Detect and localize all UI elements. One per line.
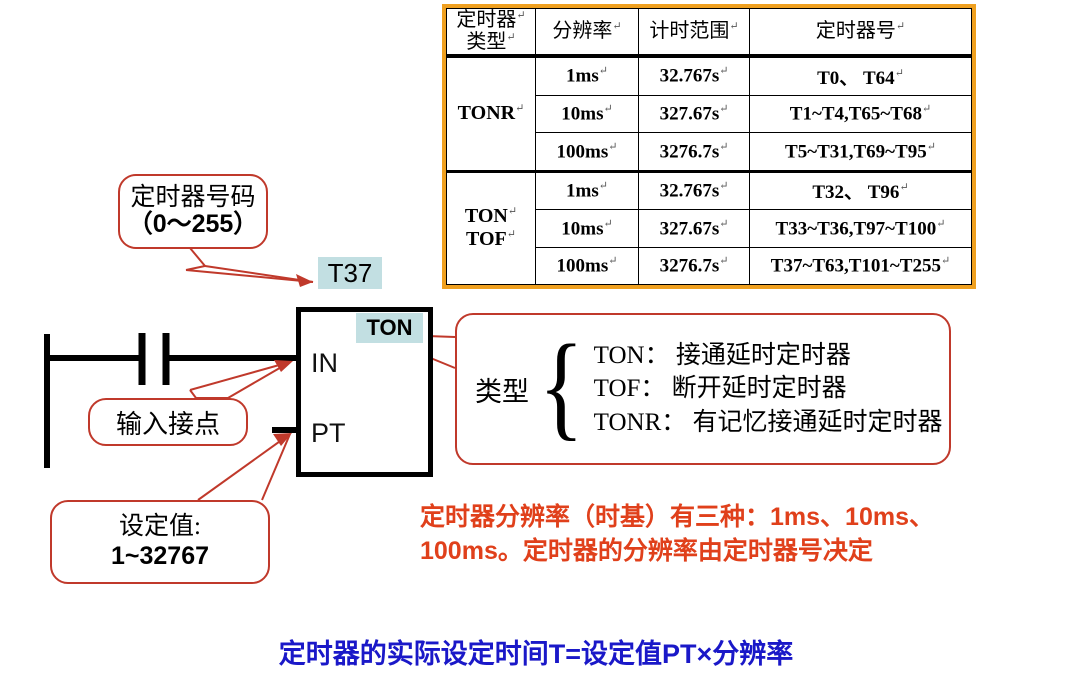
list-item: TON： 接通延时定时器 [594,342,943,370]
callout-timer-types: 类型 { TON： 接通延时定时器 TOF： 断开延时定时器 TONR： 有记忆… [455,313,951,465]
timer-number-chip[interactable]: T37 [318,257,382,289]
formula-text: 定时器的实际设定时间T=设定值PT×分辨率 [0,632,1072,671]
callout-type-label: 类型 [475,370,529,409]
leader-timer-number-arrow-icon [296,274,313,287]
callout-preset-line2: 1~32767 [111,541,209,571]
instruction-type-chip[interactable]: TON [356,313,423,343]
callout-timer-number-line2: （0～255） [128,211,259,239]
list-item: TOF： 断开延时定时器 [594,375,943,403]
list-item: TONR： 有记忆接通延时定时器 [594,409,943,437]
pin-label-pt: PT [311,418,346,449]
brace-icon: { [539,344,584,429]
leader-input-contact-line-b [190,362,290,390]
callout-timer-number: 定时器号码 （0～255） [118,174,268,249]
slide-canvas: 定时器↵ 类型↵ 分辨率↵ 计时范围↵ 定时器号↵ [0,0,1072,686]
pin-label-in: IN [311,348,338,379]
callout-input-contact-label: 输入接点 [116,404,220,441]
resolution-note: 定时器分辨率（时基）有三种：1ms、10ms、100ms。定时器的分辨率由定时器… [420,500,980,568]
callout-preset-value: 设定值: 1~32767 [50,500,270,584]
leader-input-contact-tail [190,390,228,398]
leader-timer-number-tail [186,248,205,270]
callout-type-list: TON： 接通延时定时器 TOF： 断开延时定时器 TONR： 有记忆接通延时定… [594,342,943,437]
callout-timer-number-line1: 定时器号码 [130,185,255,211]
callout-input-contact: 输入接点 [88,398,248,446]
callout-preset-line1: 设定值: [119,513,201,542]
